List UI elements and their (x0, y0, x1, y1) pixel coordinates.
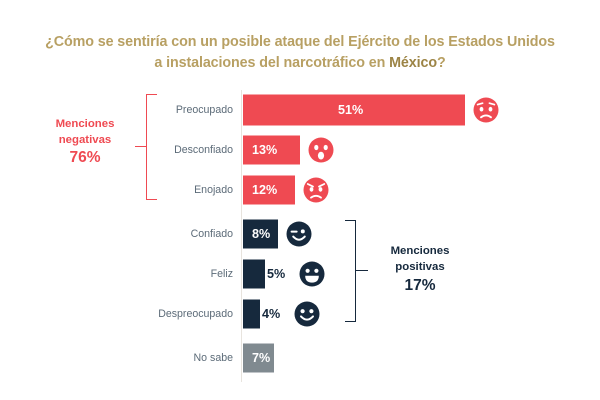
category-label: Enojado (93, 184, 233, 196)
smiling-face-icon (294, 301, 320, 327)
bar-value-label: 5% (267, 267, 285, 281)
bar-row: Despreocupado4% (0, 294, 600, 334)
category-label: Confiado (93, 228, 233, 240)
bar-row: Enojado12% (0, 170, 600, 210)
bar-value-label: 4% (262, 307, 280, 321)
category-label: Despreocupado (93, 308, 233, 320)
bar-row: Confiado8% (0, 214, 600, 254)
chart-title-line1: ¿Cómo se sentiría con un posible ataque … (45, 34, 555, 50)
worried-face-icon (473, 97, 499, 123)
chart-title: ¿Cómo se sentiría con un posible ataque … (0, 32, 600, 74)
category-label: Preocupado (93, 104, 233, 116)
category-label: Desconfiado (93, 144, 233, 156)
bar[interactable] (243, 260, 265, 289)
bar-row: Desconfiado13% (0, 130, 600, 170)
bar-row: Preocupado51% (0, 90, 600, 130)
bar-value-label: 8% (252, 227, 270, 241)
shocked-face-icon (308, 137, 334, 163)
chart-title-line2-post: ? (437, 55, 446, 71)
bar-value-label: 51% (338, 103, 363, 117)
category-label: No sabe (93, 352, 233, 364)
bar-row: Feliz5% (0, 254, 600, 294)
chart-container: ¿Cómo se sentiría con un posible ataque … (0, 0, 600, 400)
bar-row: No sabe7% (0, 338, 600, 378)
bar[interactable] (243, 300, 260, 329)
bar-value-label: 7% (252, 351, 270, 365)
angry-face-icon (303, 177, 329, 203)
bar-value-label: 12% (252, 183, 277, 197)
plot-area: Menciones negativas 76% Menciones positi… (0, 88, 600, 388)
winking-face-icon (286, 221, 312, 247)
grinning-face-icon (299, 261, 325, 287)
chart-title-line2-pre: a instalaciones del narcotráfico en (154, 55, 389, 71)
chart-title-line2: a instalaciones del narcotráfico en Méxi… (0, 53, 600, 74)
bar-value-label: 13% (252, 143, 277, 157)
chart-title-highlight: México (389, 55, 437, 71)
category-label: Feliz (93, 268, 233, 280)
